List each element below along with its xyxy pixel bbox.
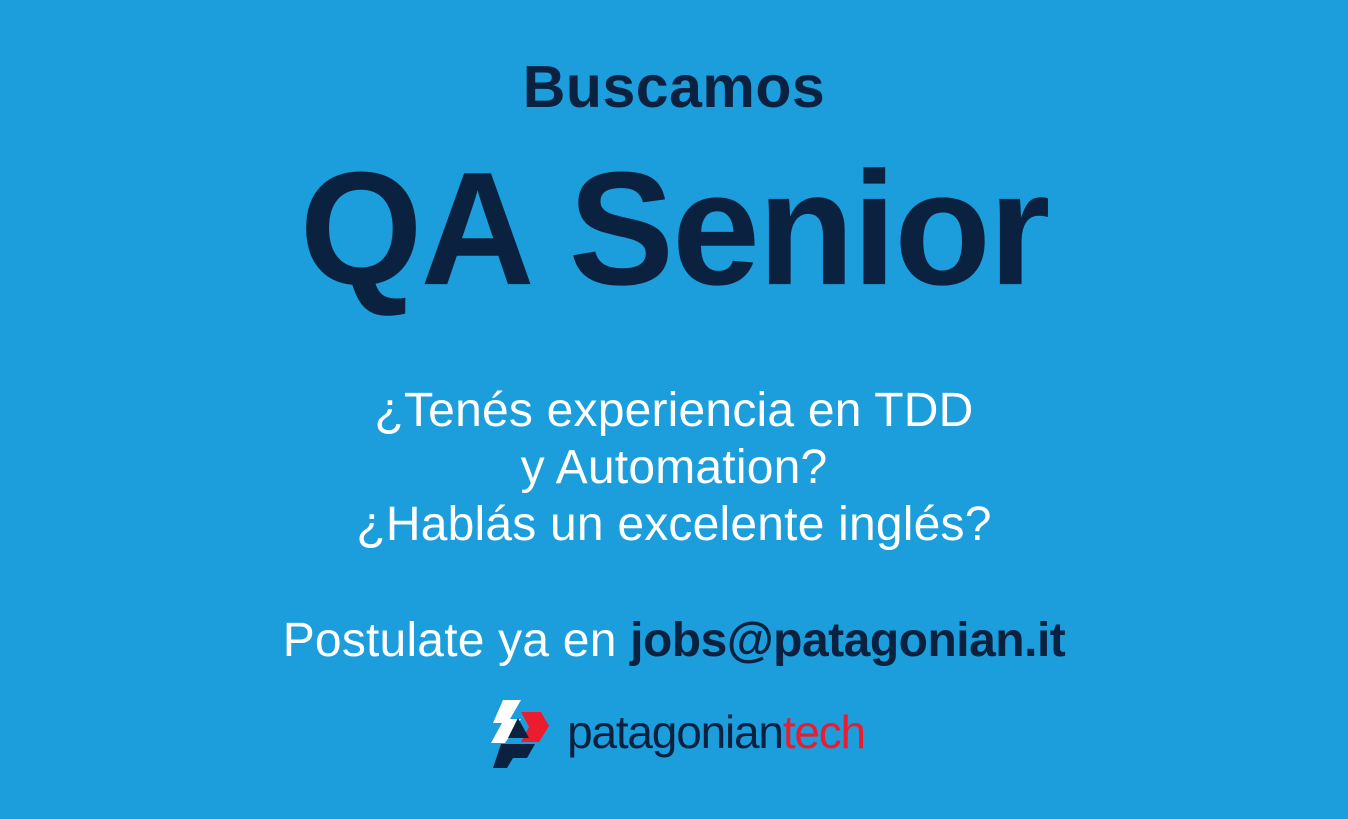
cta-prefix: Postulate ya en bbox=[283, 614, 630, 667]
question-line-2: y Automation? bbox=[0, 439, 1348, 496]
question-line-3: ¿Hablás un excelente inglés? bbox=[0, 496, 1348, 553]
brand-logo: patagoniantech bbox=[0, 698, 1348, 770]
contact-email[interactable]: jobs@patagonian.it bbox=[630, 614, 1065, 667]
page-title: QA Senior bbox=[0, 148, 1348, 309]
patagonian-arrow-mark-icon bbox=[483, 698, 555, 770]
job-ad-poster: Buscamos QA Senior ¿Tenés experiencia en… bbox=[0, 0, 1348, 819]
call-to-action: Postulate ya en jobs@patagonian.it bbox=[0, 612, 1348, 669]
brand-word-accent: tech bbox=[783, 706, 865, 758]
question-line-1: ¿Tenés experiencia en TDD bbox=[0, 382, 1348, 439]
questions-block: ¿Tenés experiencia en TDD y Automation? … bbox=[0, 382, 1348, 553]
brand-word-main: patagonian bbox=[567, 706, 783, 758]
brand-wordmark: patagoniantech bbox=[567, 709, 865, 759]
eyebrow-text: Buscamos bbox=[0, 58, 1348, 117]
